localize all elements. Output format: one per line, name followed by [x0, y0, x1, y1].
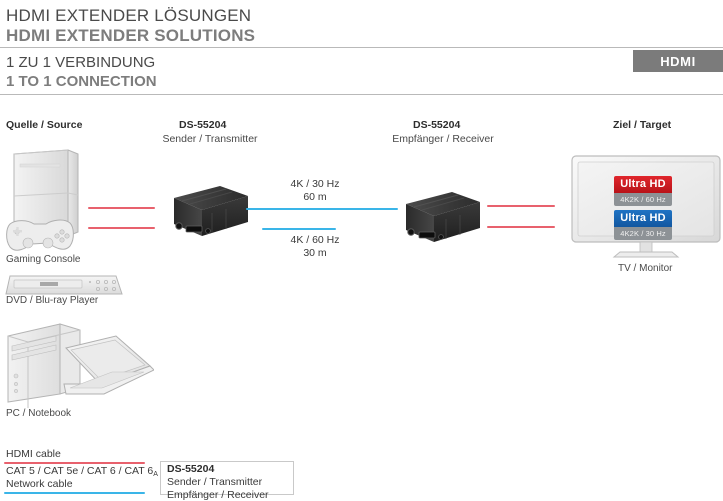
hdmi-wire-source-lower — [88, 227, 155, 229]
legend-label-network-cable-line1: CAT 5 / CAT 5e / CAT 6 / CAT 6A — [6, 465, 158, 477]
network-wire-upper — [246, 208, 398, 210]
device-label-gaming-console: Gaming Console — [6, 254, 80, 265]
column-heading-receiver-role: Empfänger / Receiver — [383, 133, 503, 145]
legend-model-role-rx: Empfänger / Receiver — [167, 489, 269, 501]
hdmi-wire-source-upper — [88, 207, 155, 209]
tv-badge-60hz-spec: 4K2K / 60 Hz — [614, 193, 672, 206]
device-label-tv-monitor: TV / Monitor — [618, 263, 672, 274]
page-subtitle-de: 1 ZU 1 VERBINDUNG — [6, 54, 155, 71]
link-upper-distance: 60 m — [303, 191, 326, 203]
tv-badge-30hz: Ultra HD 4K2K / 30 Hz — [614, 210, 672, 240]
link-lower-rate: 4K / 60 Hz — [290, 234, 339, 246]
column-heading-target: Ziel / Target — [613, 119, 671, 131]
legend-rule-network — [4, 492, 145, 494]
hdmi-wire-target-upper — [487, 205, 555, 207]
hdmi-badge: HDMI — [633, 50, 723, 72]
pc-notebook-icon — [4, 314, 154, 410]
gaming-console-icon — [4, 148, 154, 263]
legend-label-network-cable-line2: Network cable — [6, 478, 73, 490]
tv-badge-30hz-title: Ultra HD — [614, 210, 672, 227]
tv-monitor-icon — [570, 154, 722, 259]
legend-label-hdmi-cable: HDMI cable — [6, 448, 61, 460]
column-heading-transmitter-role: Sender / Transmitter — [150, 133, 270, 145]
legend-rule-hdmi — [4, 462, 145, 464]
tv-badge-30hz-spec: 4K2K / 30 Hz — [614, 227, 672, 240]
tv-badge-60hz-title: Ultra HD — [614, 176, 672, 193]
hdmi-wire-target-lower — [487, 226, 555, 228]
link-upper-rate: 4K / 30 Hz — [290, 178, 339, 190]
transmitter-device-icon — [168, 182, 252, 246]
page-subtitle-en: 1 TO 1 CONNECTION — [6, 73, 157, 90]
legend-model-name: DS-55204 — [167, 463, 214, 475]
page-title-en: HDMI EXTENDER SOLUTIONS — [6, 26, 255, 46]
legend-model-role-tx: Sender / Transmitter — [167, 476, 262, 488]
link-label-lower: 4K / 60 Hz 30 m — [260, 234, 370, 260]
header-divider-bottom — [0, 94, 723, 95]
tv-badge-60hz: Ultra HD 4K2K / 60 Hz — [614, 176, 672, 206]
column-heading-transmitter-model: DS-55204 — [179, 119, 226, 131]
network-wire-lower — [262, 228, 336, 230]
receiver-device-icon — [400, 188, 484, 252]
link-lower-distance: 30 m — [303, 247, 326, 259]
legend-network-cable-text: CAT 5 / CAT 5e / CAT 6 / CAT 6 — [6, 465, 153, 477]
column-heading-receiver-model: DS-55204 — [413, 119, 460, 131]
device-label-dvd-player: DVD / Blu-ray Player — [6, 295, 98, 306]
page-title-de: HDMI EXTENDER LÖSUNGEN — [6, 6, 251, 26]
device-label-pc-notebook: PC / Notebook — [6, 408, 71, 419]
legend-network-cable-subscript: A — [153, 471, 158, 478]
link-label-upper: 4K / 30 Hz 60 m — [260, 178, 370, 204]
column-heading-source: Quelle / Source — [6, 119, 82, 131]
header-divider-top — [0, 47, 723, 48]
